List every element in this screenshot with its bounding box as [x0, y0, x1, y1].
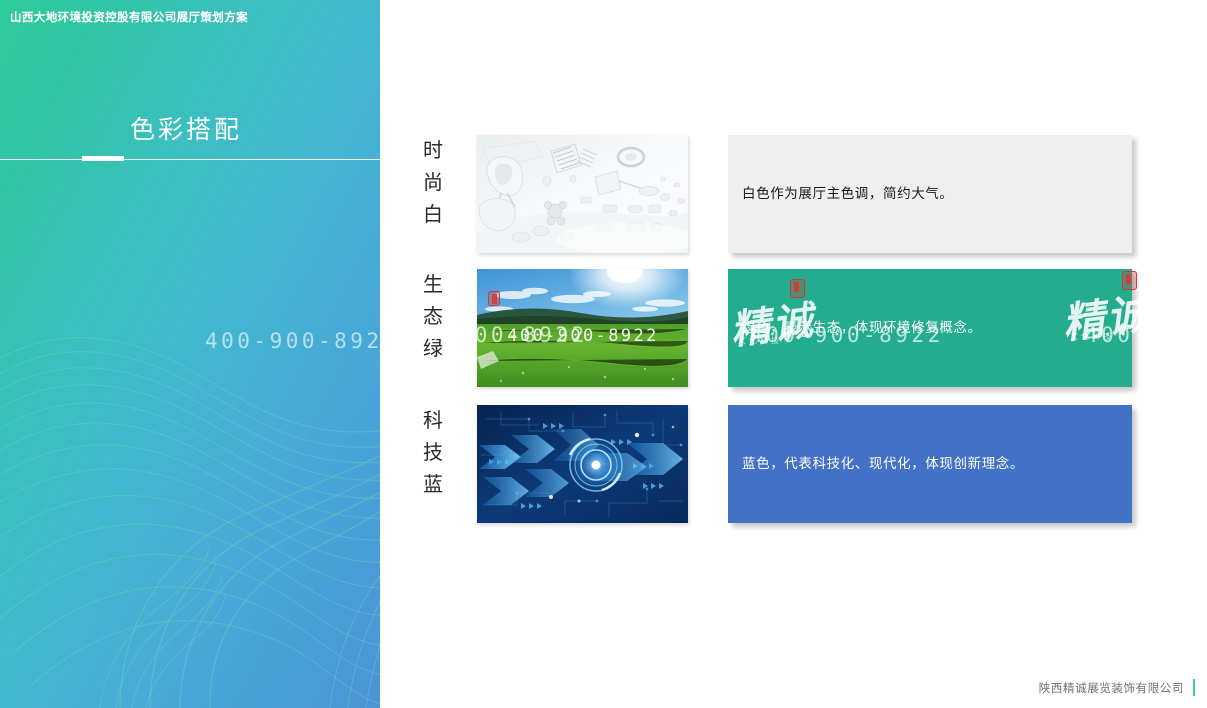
row-label-tech-blue: 科 技 蓝: [418, 405, 448, 501]
row-label-eco-green: 生 态 绿: [418, 269, 448, 365]
row-label-char: 尚: [418, 167, 448, 199]
footer: 陕西精诚展览装饰有限公司: [1039, 679, 1195, 696]
description-panel-tech-blue: 蓝色，代表科技化、现代化，体现创新理念。: [728, 405, 1132, 523]
footer-company-name: 陕西精诚展览装饰有限公司: [1039, 680, 1184, 696]
sidebar-panel: 山西大地环境投资控股有限公司展厅策划方案 色彩搭配 400-900-8922: [0, 0, 380, 708]
row-label-char: 白: [418, 199, 448, 231]
row-label-char: 技: [418, 437, 448, 469]
page-title: 色彩搭配: [130, 110, 242, 146]
topographic-contour-pattern: [0, 300, 380, 708]
footer-accent-bar: [1193, 679, 1195, 696]
green-grassland-photo[interactable]: 400-900-8922: [477, 269, 688, 387]
row-label-char: 态: [418, 301, 448, 333]
content-area: 时 尚 白: [380, 0, 1207, 708]
row-label-char: 时: [418, 135, 448, 167]
row-label-char: 蓝: [418, 469, 448, 501]
title-divider-rule: [0, 159, 380, 160]
row-label-char: 绿: [418, 333, 448, 365]
title-accent-bar: [82, 156, 124, 161]
row-label-char: 生: [418, 269, 448, 301]
row-label-fashion-white: 时 尚 白: [418, 135, 448, 231]
slide-canvas: 山西大地环境投资控股有限公司展厅策划方案 色彩搭配 400-900-8922 时…: [0, 0, 1207, 708]
row-label-char: 科: [418, 405, 448, 437]
description-panel-eco-green: 绿色，表示生态，体现环境修复概念。: [728, 269, 1132, 387]
description-text: 绿色，表示生态，体现环境修复概念。: [728, 318, 996, 338]
blue-technology-photo[interactable]: [477, 405, 688, 523]
seal-badge-icon: [488, 291, 500, 306]
document-title: 山西大地环境投资控股有限公司展厅策划方案: [10, 9, 248, 25]
white-objects-photo[interactable]: [477, 135, 688, 253]
description-text: 白色作为展厅主色调，简约大气。: [728, 184, 968, 204]
svg-text:400-900-8922: 400-900-8922: [507, 326, 659, 346]
sidebar-watermark-phone: 400-900-8922: [205, 329, 380, 353]
description-text: 蓝色，代表科技化、现代化，体现创新理念。: [728, 454, 1038, 474]
description-panel-fashion-white: 白色作为展厅主色调，简约大气。: [728, 135, 1132, 253]
